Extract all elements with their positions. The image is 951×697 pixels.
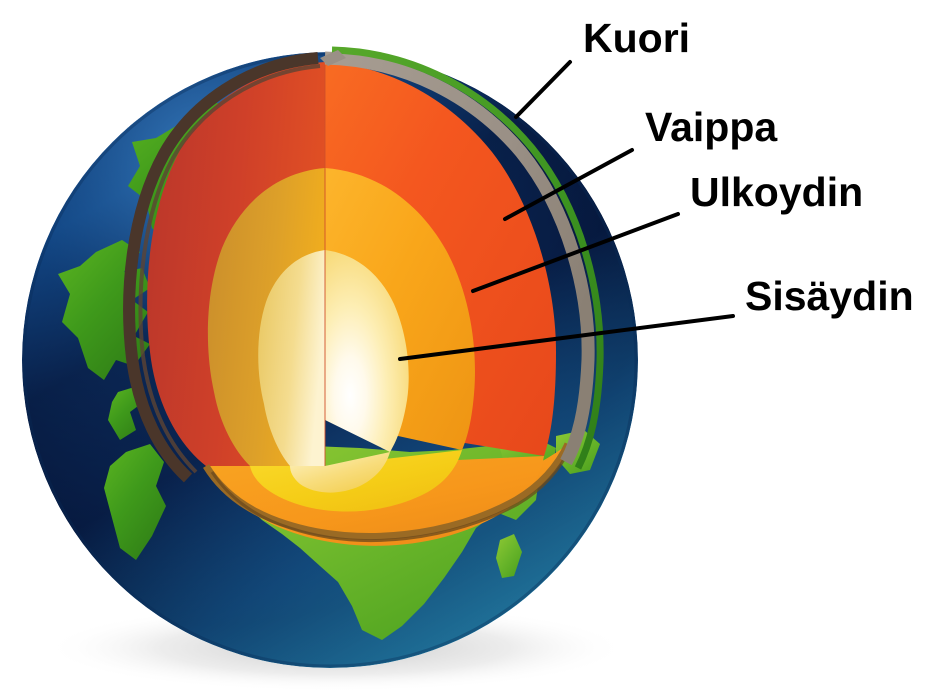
earth-cutaway-figure: Kuori Vaippa Ulkoydin Sisäydin <box>0 0 951 697</box>
labels-group: Kuori Vaippa Ulkoydin Sisäydin <box>583 15 914 319</box>
label-kuori: Kuori <box>583 15 690 61</box>
label-vaippa: Vaippa <box>645 104 778 150</box>
leader-line-kuori <box>516 62 570 117</box>
label-ulkoydin: Ulkoydin <box>690 169 863 215</box>
label-sisaydin: Sisäydin <box>745 273 914 319</box>
diagram-canvas: Kuori Vaippa Ulkoydin Sisäydin <box>0 0 951 697</box>
